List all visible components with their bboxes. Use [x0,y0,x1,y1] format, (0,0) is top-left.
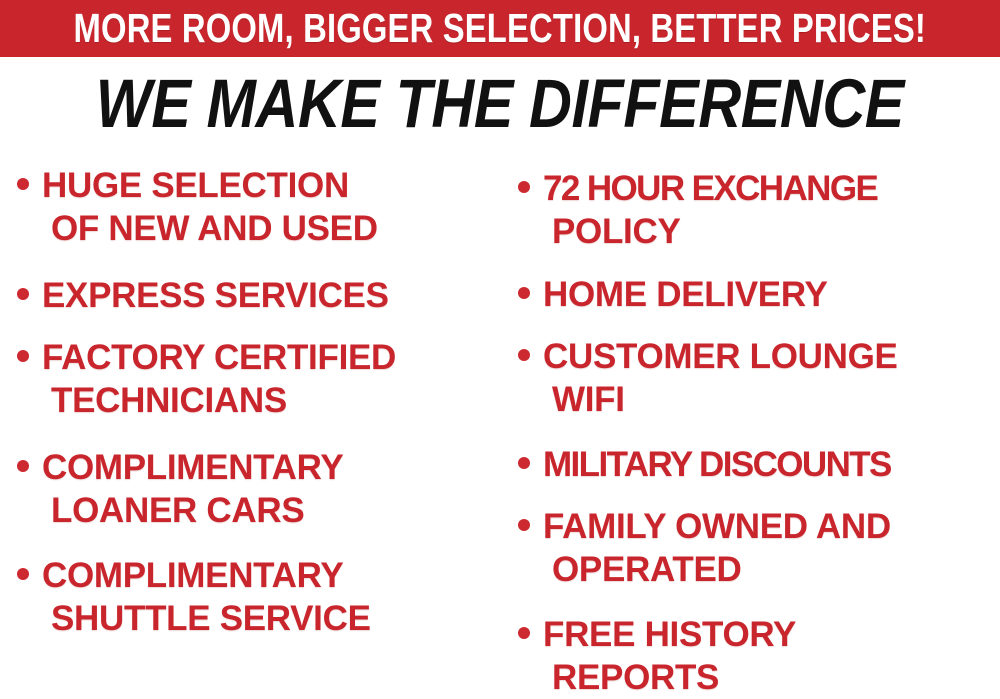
list-item: FAMILY OWNED AND OPERATED [518,505,1000,591]
list-item-line1: HOME DELIVERY [543,275,828,314]
list-item-line1: FAMILY OWNED AND [543,507,891,546]
list-item: MILITARY DISCOUNTS [518,443,1000,486]
list-item-line1: COMPLIMENTARY [42,448,343,487]
bullet-dot-icon [17,568,29,580]
bullet-dot-icon [17,178,29,190]
list-item: COMPLIMENTARY LOANER CARS [17,446,500,532]
list-item-text: FAMILY OWNED AND OPERATED [543,505,891,591]
list-item-text: FACTORY CERTIFIED TECHNICIANS [42,336,396,422]
list-item-line1: FACTORY CERTIFIED [42,338,396,377]
headline-container: WE MAKE THE DIFFERENCE [0,62,1000,144]
list-item-line2: TECHNICIANS [42,379,396,422]
bullet-dot-icon [518,349,530,361]
bullet-dot-icon [518,627,530,639]
list-item-line2: OF NEW AND USED [42,207,378,250]
benefits-column-right: 72 HOUR EXCHANGE POLICY HOME DELIVERY CU… [500,150,1000,699]
list-item-text: CUSTOMER LOUNGE WIFI [543,335,898,421]
list-item-line1: HUGE SELECTION [42,166,349,205]
bullet-dot-icon [518,287,530,299]
list-item-line1: 72 HOUR EXCHANGE [543,169,877,208]
list-item-line1: CUSTOMER LOUNGE [543,337,898,376]
list-item-line1: MILITARY DISCOUNTS [543,445,891,484]
list-item-text: COMPLIMENTARY SHUTTLE SERVICE [42,554,371,640]
list-item-text: MILITARY DISCOUNTS [543,443,891,486]
list-item: HOME DELIVERY [518,273,1000,316]
list-item: COMPLIMENTARY SHUTTLE SERVICE [17,554,500,640]
list-item-line1: COMPLIMENTARY [42,556,343,595]
list-item: 72 HOUR EXCHANGE POLICY [518,167,1000,253]
list-item-line2: POLICY [543,210,877,253]
list-item: EXPRESS SERVICES [17,274,500,317]
list-item-text: 72 HOUR EXCHANGE POLICY [543,167,877,253]
bullet-dot-icon [518,181,530,193]
list-item: CUSTOMER LOUNGE WIFI [518,335,1000,421]
list-item-line2: REPORTS [543,656,796,699]
bullet-dot-icon [17,460,29,472]
list-item-line2: OPERATED [543,548,891,591]
page-title: WE MAKE THE DIFFERENCE [96,69,904,138]
list-item-text: COMPLIMENTARY LOANER CARS [42,446,343,532]
list-item-line2: SHUTTLE SERVICE [42,597,371,640]
bullet-dot-icon [17,350,29,362]
list-item-line2: LOANER CARS [42,489,343,532]
list-item: FACTORY CERTIFIED TECHNICIANS [17,336,500,422]
list-item-text: HOME DELIVERY [543,273,828,316]
list-item-text: FREE HISTORY REPORTS [543,613,796,699]
bullet-dot-icon [518,457,530,469]
list-item: FREE HISTORY REPORTS [518,613,1000,699]
list-item-line1: EXPRESS SERVICES [42,276,389,315]
list-item-text: EXPRESS SERVICES [42,274,389,317]
list-item: HUGE SELECTION OF NEW AND USED [17,164,500,250]
list-item-line2: WIFI [543,378,898,421]
list-item-text: HUGE SELECTION OF NEW AND USED [42,164,378,250]
promo-banner: MORE ROOM, BIGGER SELECTION, BETTER PRIC… [0,0,1000,57]
benefits-columns: HUGE SELECTION OF NEW AND USED EXPRESS S… [0,150,1000,694]
benefits-column-left: HUGE SELECTION OF NEW AND USED EXPRESS S… [0,150,500,640]
list-item-line1: FREE HISTORY [543,615,796,654]
bullet-dot-icon [518,519,530,531]
promo-banner-text: MORE ROOM, BIGGER SELECTION, BETTER PRIC… [74,8,926,49]
bullet-dot-icon [17,288,29,300]
